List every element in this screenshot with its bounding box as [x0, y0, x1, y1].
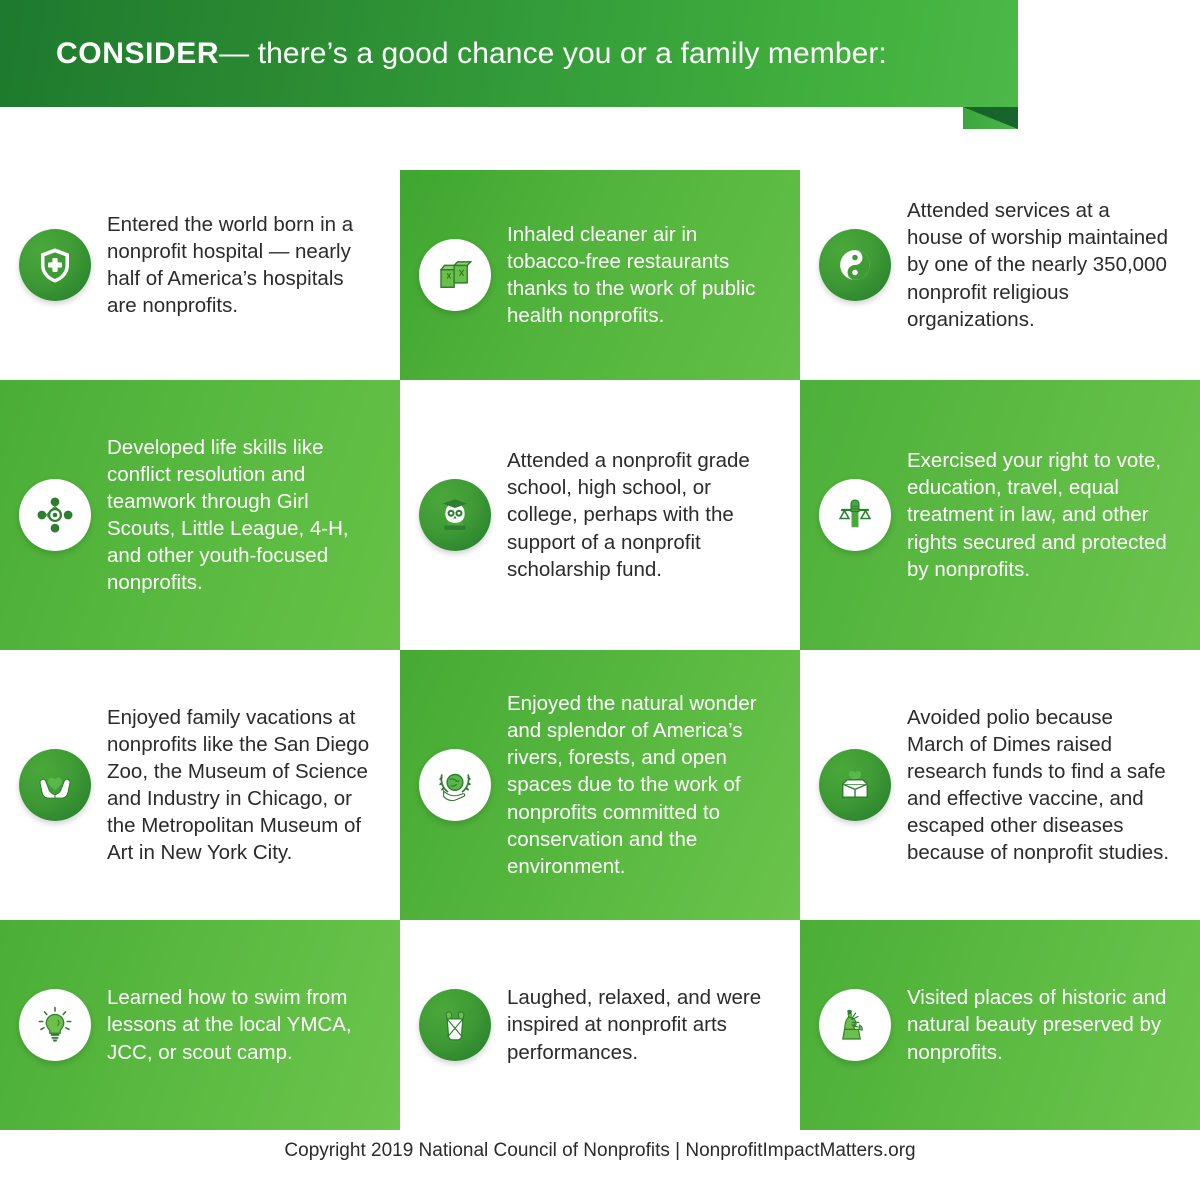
benefit-text: Enjoyed family vacations at nonprofits l…: [107, 704, 379, 866]
earth-hand-laurel-icon: [419, 749, 491, 821]
benefit-text: Developed life skills like conflict reso…: [107, 434, 379, 596]
scales-fist-icon: [819, 479, 891, 551]
benefit-text: Learned how to swim from lessons at the …: [107, 984, 379, 1065]
benefit-text: Exercised your right to vote, education,…: [907, 447, 1179, 582]
infographic-page: CONSIDER — there’s a good chance you or …: [0, 0, 1200, 1200]
benefit-cell-polio-research: Avoided polio because March of Dimes rai…: [800, 650, 1200, 920]
header-banner: CONSIDER — there’s a good chance you or …: [0, 0, 1018, 130]
page-title: CONSIDER — there’s a good chance you or …: [56, 0, 887, 107]
benefit-cell-museums-zoos: Enjoyed family vacations at nonprofits l…: [0, 650, 400, 920]
benefit-text: Visited places of historic and natural b…: [907, 984, 1179, 1065]
shield-cross-icon: [19, 229, 91, 301]
theatre-masks-icon: [419, 989, 491, 1061]
benefit-text: Avoided polio because March of Dimes rai…: [907, 704, 1179, 866]
benefit-text: Attended a nonprofit grade school, high …: [507, 447, 779, 582]
statue-of-liberty-icon: [819, 989, 891, 1061]
benefit-cell-historic-places: Visited places of historic and natural b…: [800, 920, 1200, 1130]
benefit-text: Entered the world born in a nonprofit ho…: [107, 211, 379, 319]
benefit-cell-worship: Attended services at a house of worship …: [800, 150, 1200, 380]
graduate-owl-icon: [419, 479, 491, 551]
benefit-text: Inhaled cleaner air in tobacco-free rest…: [507, 221, 779, 329]
header-fold-corner-icon: [963, 107, 1018, 129]
page-title-strong: CONSIDER: [56, 37, 219, 71]
page-title-rest: — there’s a good chance you or a family …: [219, 37, 887, 71]
benefit-cell-arts: Laughed, relaxed, and were inspired at n…: [400, 920, 800, 1130]
hands-heart-icon: [19, 749, 91, 821]
footer-copyright: Copyright 2019 National Council of Nonpr…: [0, 1140, 1200, 1162]
benefit-cell-conservation: Enjoyed the natural wonder and splendor …: [400, 650, 800, 920]
benefit-cell-rights: Exercised your right to vote, education,…: [800, 380, 1200, 650]
benefit-cell-hospital: Entered the world born in a nonprofit ho…: [0, 150, 400, 380]
teamwork-gear-icon: [19, 479, 91, 551]
yin-yang-icon: [819, 229, 891, 301]
benefit-cell-education: Attended a nonprofit grade school, high …: [400, 380, 800, 650]
benefit-text: Attended services at a house of worship …: [907, 197, 1179, 332]
benefit-cell-youth-skills: Developed life skills like conflict reso…: [0, 380, 400, 650]
benefit-text: Enjoyed the natural wonder and splendor …: [507, 690, 779, 879]
benefit-text: Laughed, relaxed, and were inspired at n…: [507, 984, 779, 1065]
benefit-cell-swim-lessons: Learned how to swim from lessons at the …: [0, 920, 400, 1130]
lightbulb-icon: [19, 989, 91, 1061]
benefit-cell-clean-air: Inhaled cleaner air in tobacco-free rest…: [400, 150, 800, 380]
recycle-bins-icon: [419, 239, 491, 311]
benefit-grid: Entered the world born in a nonprofit ho…: [0, 150, 1200, 1130]
donation-box-heart-icon: [819, 749, 891, 821]
